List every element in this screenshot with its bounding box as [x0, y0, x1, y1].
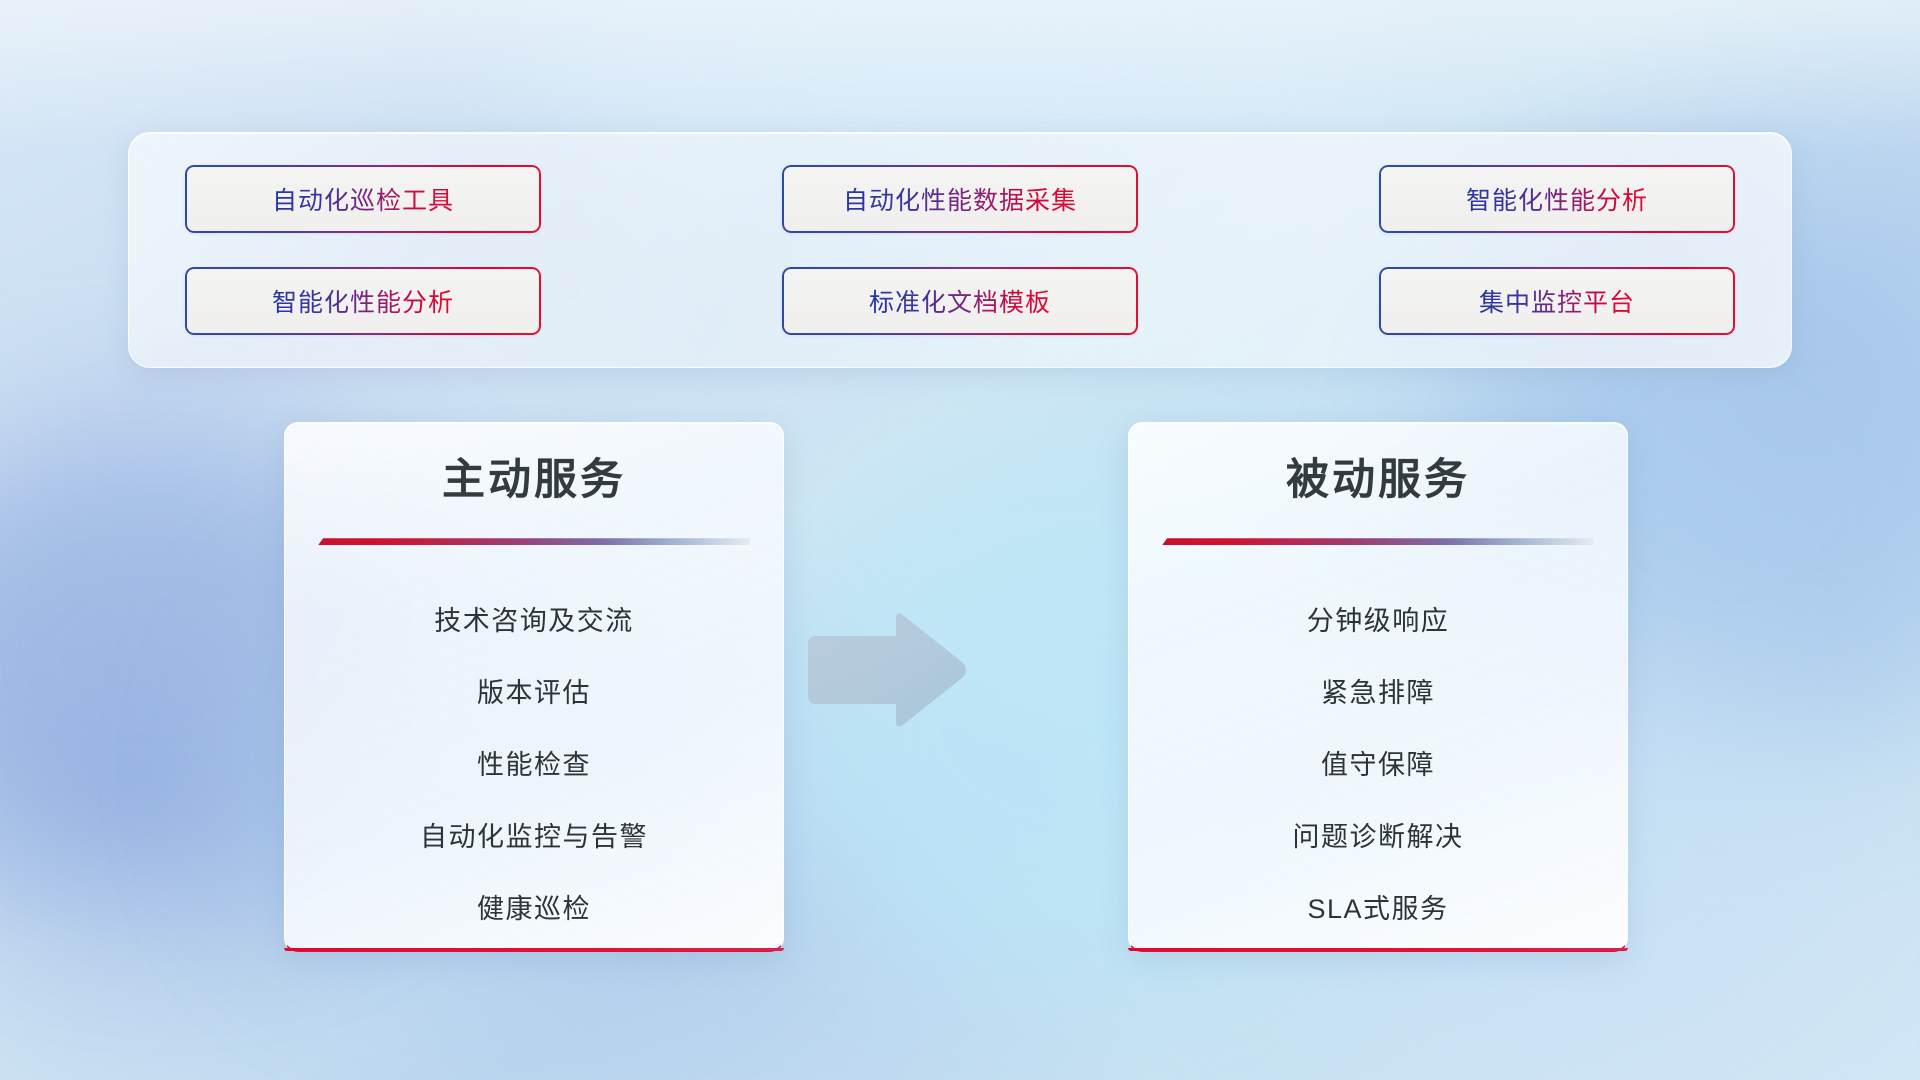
capability-chip[interactable]: 智能化性能分析 [185, 267, 541, 335]
capability-chip-label: 自动化巡检工具 [272, 181, 454, 217]
card-title: 被动服务 [1129, 457, 1627, 504]
capability-chip-label: 集中监控平台 [1479, 283, 1635, 319]
list-item[interactable]: 技术咨询及交流 [285, 585, 783, 657]
list-item[interactable]: 问题诊断解决 [1129, 801, 1627, 873]
capability-chip-label: 智能化性能分析 [1466, 181, 1648, 217]
list-item[interactable]: 分钟级响应 [1129, 585, 1627, 657]
capability-chip-label: 标准化文档模板 [869, 283, 1051, 319]
arrow-right-icon [800, 610, 970, 730]
card-title: 主动服务 [285, 457, 783, 504]
capability-chip[interactable]: 标准化文档模板 [782, 267, 1138, 335]
service-list: 技术咨询及交流 版本评估 性能检查 自动化监控与告警 健康巡检 [285, 585, 783, 945]
list-item[interactable]: 版本评估 [285, 657, 783, 729]
capability-row-2: 智能化性能分析 标准化文档模板 集中监控平台 [185, 267, 1735, 335]
background-sheen [0, 0, 1920, 150]
title-divider [318, 538, 750, 545]
capability-chip[interactable]: 自动化性能数据采集 [782, 165, 1138, 233]
capability-chip[interactable]: 智能化性能分析 [1379, 165, 1735, 233]
capability-chip[interactable]: 自动化巡检工具 [185, 165, 541, 233]
list-item[interactable]: SLA式服务 [1129, 873, 1627, 945]
capability-chip-label: 智能化性能分析 [272, 283, 454, 319]
capability-chip[interactable]: 集中监控平台 [1379, 267, 1735, 335]
title-divider [1162, 538, 1594, 545]
service-card-proactive: 主动服务 技术咨询及交流 版本评估 性能检查 自动化监控与告警 健康巡检 [284, 422, 784, 952]
list-item[interactable]: 自动化监控与告警 [285, 801, 783, 873]
service-card-reactive: 被动服务 分钟级响应 紧急排障 值守保障 问题诊断解决 SLA式服务 [1128, 422, 1628, 952]
list-item[interactable]: 健康巡检 [285, 873, 783, 945]
list-item[interactable]: 紧急排障 [1129, 657, 1627, 729]
list-item[interactable]: 值守保障 [1129, 729, 1627, 801]
capability-panel: 自动化巡检工具 自动化性能数据采集 智能化性能分析 智能化性能分析 标准化文档模… [128, 132, 1792, 368]
list-item[interactable]: 性能检查 [285, 729, 783, 801]
capability-chip-label: 自动化性能数据采集 [843, 181, 1077, 217]
capability-row-1: 自动化巡检工具 自动化性能数据采集 智能化性能分析 [185, 165, 1735, 233]
service-list: 分钟级响应 紧急排障 值守保障 问题诊断解决 SLA式服务 [1129, 585, 1627, 945]
